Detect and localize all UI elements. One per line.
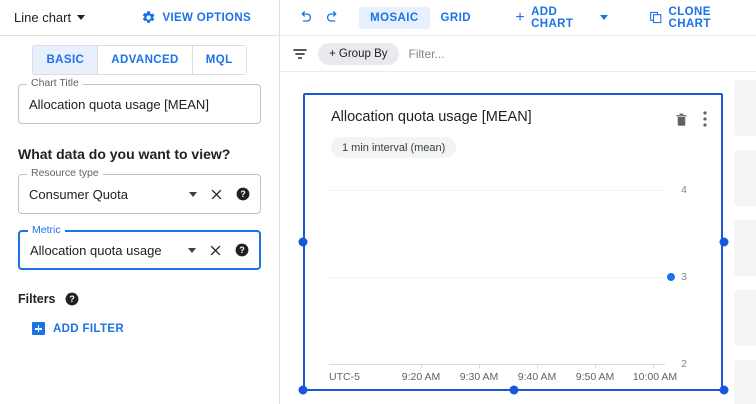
config-tabs: BASIC ADVANCED MQL — [32, 45, 246, 75]
view-options-button[interactable]: VIEW OPTIONS — [141, 10, 265, 25]
x-tick-label-3: 9:40 AM — [518, 371, 557, 383]
chevron-down-icon[interactable] — [188, 248, 196, 253]
chart-widget[interactable]: Allocation quota usage [MEAN] — [303, 93, 723, 391]
metric-icons: ? — [188, 243, 249, 257]
plus-icon — [32, 322, 45, 335]
x-tick-label-1: 9:20 AM — [402, 371, 441, 383]
add-filter-button[interactable]: ADD FILTER — [32, 322, 279, 335]
data-point[interactable] — [667, 273, 675, 281]
help-icon[interactable]: ? — [236, 187, 250, 201]
svg-text:?: ? — [69, 294, 74, 304]
gear-icon — [141, 10, 156, 25]
filter-icon[interactable] — [292, 46, 308, 62]
resize-handle-bottom-center[interactable] — [510, 386, 519, 395]
view-mode-mosaic[interactable]: MOSAIC — [359, 7, 429, 29]
resource-type-value: Consumer Quota — [29, 187, 189, 202]
tab-mql[interactable]: MQL — [193, 46, 246, 74]
ghost-card-2[interactable] — [734, 150, 756, 206]
metric-field[interactable]: Metric Allocation quota usage ? — [18, 230, 261, 270]
more-vert-icon[interactable] — [703, 111, 707, 127]
resize-handle-right-middle[interactable] — [720, 238, 729, 247]
y-tick-3: 3 — [681, 271, 687, 283]
close-icon[interactable] — [210, 188, 223, 201]
y-tick-2: 2 — [681, 358, 687, 370]
x-tick-label-2: 9:30 AM — [460, 371, 499, 383]
interval-chip: 1 min interval (mean) — [331, 137, 456, 158]
ghost-card-4[interactable] — [734, 290, 756, 346]
resize-handle-left-middle[interactable] — [299, 238, 308, 247]
x-tick-mark-4 — [595, 364, 596, 368]
chart-title-value: Allocation quota usage [MEAN] — [29, 97, 250, 112]
close-icon[interactable] — [209, 244, 222, 257]
metric-value: Allocation quota usage — [30, 243, 188, 258]
clone-chart-button[interactable]: CLONE CHART — [641, 1, 756, 35]
grid-label: GRID — [441, 12, 471, 24]
add-chart-button[interactable]: + ADD CHART — [507, 1, 615, 35]
x-tick-mark-2 — [479, 364, 480, 368]
x-tick-mark-5 — [653, 364, 654, 368]
resize-handle-bottom-left[interactable] — [299, 386, 308, 395]
filter-bar: + Group By Filter... — [280, 36, 756, 72]
resource-type-legend: Resource type — [27, 168, 103, 179]
chart-title-field[interactable]: Chart Title Allocation quota usage [MEAN… — [18, 84, 261, 124]
y-tick-4: 4 — [681, 184, 687, 196]
filters-section-header: Filters ? — [18, 292, 279, 306]
undo-icon — [297, 9, 314, 26]
dashboard-toolbar: MOSAIC GRID + ADD CHART CLONE CHART — [280, 0, 756, 36]
tab-advanced[interactable]: ADVANCED — [98, 46, 193, 74]
chart-config-panel: Line chart VIEW OPTIONS BASIC ADVANCED M — [0, 0, 280, 404]
chart-plot-area: 4 3 2 UTC-5 9:20 AM — [305, 172, 721, 372]
tab-advanced-label: ADVANCED — [111, 54, 179, 66]
clone-icon — [649, 10, 663, 25]
add-filter-label: ADD FILTER — [53, 323, 124, 335]
chart-type-dropdown[interactable]: Line chart — [14, 10, 85, 25]
chart-title-legend: Chart Title — [27, 78, 83, 89]
x-tick-mark-3 — [537, 364, 538, 368]
x-tick-label-4: 9:50 AM — [576, 371, 615, 383]
chevron-down-icon — [600, 15, 608, 20]
chevron-down-icon — [77, 15, 85, 20]
tab-mql-label: MQL — [206, 54, 233, 66]
metric-legend: Metric — [28, 225, 65, 236]
timezone-label: UTC-5 — [329, 371, 360, 383]
tab-basic-label: BASIC — [46, 54, 84, 66]
ghost-card-1[interactable] — [734, 80, 756, 136]
view-options-label: VIEW OPTIONS — [162, 12, 251, 24]
gridline-3 — [329, 277, 665, 278]
monitoring-chart-editor: Line chart VIEW OPTIONS BASIC ADVANCED M — [0, 0, 756, 404]
resource-type-icons: ? — [189, 187, 250, 201]
chart-widget-title: Allocation quota usage [MEAN] — [331, 109, 674, 125]
chart-widget-actions — [674, 109, 707, 127]
gridline-4 — [329, 190, 665, 191]
add-chart-label: ADD CHART — [531, 6, 594, 30]
svg-text:?: ? — [239, 245, 244, 255]
redo-icon — [324, 9, 341, 26]
resource-type-field[interactable]: Resource type Consumer Quota ? — [18, 174, 261, 214]
undo-button[interactable] — [292, 3, 319, 33]
filters-label: Filters — [18, 292, 56, 306]
svg-text:?: ? — [240, 189, 245, 199]
tab-basic[interactable]: BASIC — [33, 46, 98, 74]
view-mode-grid[interactable]: GRID — [430, 7, 482, 29]
plus-icon: + — [515, 10, 525, 26]
panel-header: Line chart VIEW OPTIONS — [0, 0, 279, 36]
help-icon[interactable]: ? — [235, 243, 249, 257]
chart-type-label: Line chart — [14, 10, 71, 25]
resize-handle-bottom-right[interactable] — [720, 386, 729, 395]
chart-canvas: Allocation quota usage [MEAN] — [280, 72, 756, 404]
clone-chart-label: CLONE CHART — [669, 6, 748, 30]
x-tick-mark-1 — [421, 364, 422, 368]
x-tick-label-5: 10:00 AM — [633, 371, 677, 383]
chevron-down-icon[interactable] — [189, 192, 197, 197]
dashboard-area: MOSAIC GRID + ADD CHART CLONE CHART — [280, 0, 756, 404]
group-by-label: + Group By — [329, 48, 388, 60]
ghost-card-5[interactable] — [734, 360, 756, 404]
filter-input[interactable]: Filter... — [409, 47, 445, 61]
help-icon[interactable]: ? — [65, 292, 79, 306]
mosaic-label: MOSAIC — [370, 12, 418, 24]
chart-widget-header: Allocation quota usage [MEAN] — [305, 95, 721, 127]
section-heading: What data do you want to view? — [18, 146, 279, 162]
trash-icon[interactable] — [674, 112, 689, 127]
ghost-card-3[interactable] — [734, 220, 756, 276]
group-by-chip[interactable]: + Group By — [318, 43, 399, 65]
redo-button[interactable] — [319, 3, 346, 33]
x-axis-line — [329, 364, 665, 365]
